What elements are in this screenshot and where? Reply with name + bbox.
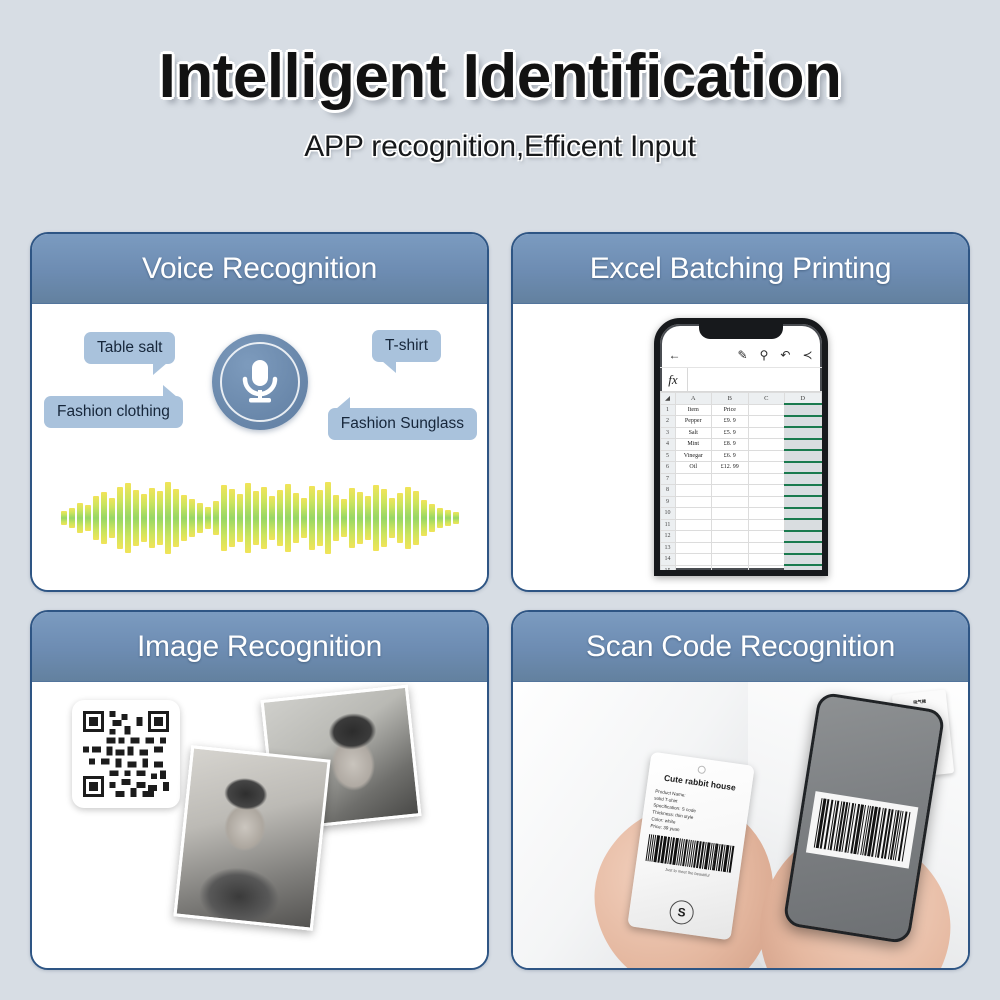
- card-header-voice: Voice Recognition: [32, 234, 487, 304]
- corner-select-all-icon[interactable]: ◢: [660, 393, 675, 405]
- cell-b[interactable]: £9. 9: [712, 416, 749, 428]
- speech-bubble-fashion-sunglass: Fashion Sunglass: [328, 408, 477, 440]
- cell-c[interactable]: [748, 554, 785, 566]
- speech-bubble-table-salt: Table salt: [84, 332, 175, 364]
- sheet-row[interactable]: 7: [660, 473, 821, 485]
- waveform-bar: [61, 511, 67, 525]
- waveform-bar: [221, 485, 227, 551]
- waveform-bar: [93, 496, 99, 540]
- cell-b[interactable]: £12. 99: [712, 462, 749, 474]
- cell-b[interactable]: £8. 9: [712, 439, 749, 451]
- page-subtitle: APP recognition,Efficent Input: [0, 130, 1000, 164]
- cell-d[interactable]: [785, 485, 822, 497]
- waveform-bar: [245, 483, 251, 553]
- edit-pen-icon[interactable]: ✎: [738, 349, 748, 361]
- cell-a[interactable]: [675, 542, 712, 554]
- cell-a[interactable]: [675, 519, 712, 531]
- card-image-recognition[interactable]: Image Recognition: [30, 610, 489, 970]
- cell-d[interactable]: [785, 496, 822, 508]
- hangtag-size-badge: S: [668, 899, 695, 926]
- card-header-excel: Excel Batching Printing: [513, 234, 968, 304]
- row-index[interactable]: 15: [660, 565, 675, 576]
- waveform-bar: [237, 494, 243, 542]
- waveform-bar: [197, 503, 203, 533]
- row-index[interactable]: 3: [660, 427, 675, 439]
- undo-icon[interactable]: ↶: [780, 349, 790, 361]
- sheet-row[interactable]: 8: [660, 485, 821, 497]
- waveform-bar: [269, 496, 275, 540]
- row-index[interactable]: 8: [660, 485, 675, 497]
- waveform-bar: [285, 484, 291, 552]
- cell-b[interactable]: [712, 508, 749, 520]
- row-index[interactable]: 14: [660, 554, 675, 566]
- waveform-bar: [445, 510, 451, 526]
- card-title-excel: Excel Batching Printing: [590, 252, 892, 286]
- waveform-bar: [229, 489, 235, 547]
- card-excel-batching-printing[interactable]: Excel Batching Printing ← ✎ ⚲ ↶ ≺: [511, 232, 970, 592]
- cell-c[interactable]: [748, 542, 785, 554]
- waveform-bar: [365, 496, 371, 540]
- waveform-bar: [317, 490, 323, 546]
- waveform-bar: [85, 505, 91, 531]
- cell-c[interactable]: [748, 462, 785, 474]
- cell-a[interactable]: Salt: [675, 427, 712, 439]
- cell-b[interactable]: [712, 496, 749, 508]
- cell-c[interactable]: [748, 473, 785, 485]
- waveform-bar: [293, 493, 299, 543]
- cell-b[interactable]: [712, 485, 749, 497]
- cell-d[interactable]: [785, 531, 822, 543]
- cell-c[interactable]: [748, 439, 785, 451]
- sheet-row[interactable]: 12: [660, 531, 821, 543]
- sheet-row[interactable]: 3Salt£5. 9: [660, 427, 821, 439]
- row-index[interactable]: 1: [660, 404, 675, 416]
- cell-c[interactable]: [748, 485, 785, 497]
- card-scan-code-recognition[interactable]: Scan Code Recognition 吸气裙 面料 棉 规格 S码 颜色 …: [511, 610, 970, 970]
- sheet-row[interactable]: 6Oil£12. 99: [660, 462, 821, 474]
- waveform-bar: [437, 508, 443, 528]
- card-title-image: Image Recognition: [137, 630, 382, 664]
- cell-a[interactable]: [675, 531, 712, 543]
- excel-sheet[interactable]: ◢ A B C D 1ItemPrice2Pepper£9. 93Salt£5.…: [660, 392, 822, 576]
- row-index[interactable]: 5: [660, 450, 675, 462]
- waveform-bar: [333, 495, 339, 541]
- cell-d[interactable]: [785, 565, 822, 576]
- row-index[interactable]: 10: [660, 508, 675, 520]
- cell-d[interactable]: [785, 416, 822, 428]
- row-index[interactable]: 11: [660, 519, 675, 531]
- sheet-row[interactable]: 1ItemPrice: [660, 404, 821, 416]
- cell-b[interactable]: [712, 473, 749, 485]
- card-body-excel: ← ✎ ⚲ ↶ ≺ fx: [513, 304, 968, 590]
- cell-b[interactable]: [712, 531, 749, 543]
- waveform-bar: [261, 487, 267, 549]
- waveform-bar: [157, 491, 163, 545]
- waveform-bar: [165, 482, 171, 554]
- waveform-bar: [205, 507, 211, 529]
- sheet-row[interactable]: 5Vinegar£6. 9: [660, 450, 821, 462]
- cell-c[interactable]: [748, 565, 785, 576]
- row-index[interactable]: 9: [660, 496, 675, 508]
- cell-d[interactable]: [785, 508, 822, 520]
- waveform-bar: [149, 488, 155, 548]
- cell-a[interactable]: [675, 508, 712, 520]
- sheet-row[interactable]: 9: [660, 496, 821, 508]
- barcode-scan-preview: [806, 791, 918, 869]
- card-body-image: [32, 682, 487, 968]
- waveform-bar: [389, 498, 395, 538]
- cell-a[interactable]: [675, 485, 712, 497]
- waveform-bar: [101, 492, 107, 544]
- cell-a[interactable]: [675, 473, 712, 485]
- waveform-bar: [133, 490, 139, 546]
- waveform-bar: [349, 488, 355, 548]
- waveform-bar: [213, 501, 219, 535]
- cell-a[interactable]: [675, 554, 712, 566]
- cell-c[interactable]: [748, 496, 785, 508]
- row-index[interactable]: 12: [660, 531, 675, 543]
- waveform-bar: [125, 483, 131, 553]
- sheet-row[interactable]: 11: [660, 519, 821, 531]
- cell-a[interactable]: Pepper: [675, 416, 712, 428]
- cell-c[interactable]: [748, 427, 785, 439]
- share-icon[interactable]: ≺: [802, 349, 812, 361]
- waveform-bar: [181, 495, 187, 541]
- search-icon[interactable]: ⚲: [760, 349, 769, 361]
- waveform-bar: [381, 489, 387, 547]
- waveform-bar: [253, 491, 259, 545]
- waveform-bar: [373, 485, 379, 551]
- cell-b[interactable]: [712, 542, 749, 554]
- card-title-scan: Scan Code Recognition: [586, 630, 895, 664]
- row-index[interactable]: 4: [660, 439, 675, 451]
- waveform-bar: [421, 500, 427, 536]
- microphone-ring-icon: [220, 342, 300, 422]
- formula-fx-icon: fx: [660, 368, 688, 392]
- row-index[interactable]: 7: [660, 473, 675, 485]
- cell-d[interactable]: [785, 404, 822, 416]
- cell-d[interactable]: [785, 462, 822, 474]
- cell-d[interactable]: [785, 427, 822, 439]
- waveform-bar: [309, 486, 315, 550]
- column-header-c[interactable]: C: [748, 393, 785, 405]
- cell-c[interactable]: [748, 508, 785, 520]
- cell-c[interactable]: [748, 416, 785, 428]
- cell-a[interactable]: Vinegar: [675, 450, 712, 462]
- cell-d[interactable]: [785, 554, 822, 566]
- feature-grid: Voice Recognition Table salt T-shirt Fas…: [30, 232, 970, 970]
- card-voice-recognition[interactable]: Voice Recognition Table salt T-shirt Fas…: [30, 232, 489, 592]
- row-index[interactable]: 2: [660, 416, 675, 428]
- sheet-row[interactable]: 4Mint£8. 9: [660, 439, 821, 451]
- phone-mockup-excel: ← ✎ ⚲ ↶ ≺ fx: [654, 318, 828, 576]
- cell-d[interactable]: [785, 450, 822, 462]
- cell-d[interactable]: [785, 473, 822, 485]
- waveform-bar: [397, 493, 403, 543]
- waveform-bar: [277, 490, 283, 546]
- waveform-bar: [325, 482, 331, 554]
- qr-code-thumbnail[interactable]: [72, 700, 180, 808]
- column-header-b[interactable]: B: [712, 393, 749, 405]
- waveform-bar: [141, 494, 147, 542]
- waveform-bar: [453, 512, 459, 524]
- cell-c[interactable]: [748, 404, 785, 416]
- waveform-bar: [357, 492, 363, 544]
- cell-a[interactable]: Item: [675, 404, 712, 416]
- cell-a[interactable]: Mint: [675, 439, 712, 451]
- waveform-bar: [405, 487, 411, 549]
- phone-notch: [699, 324, 783, 339]
- cell-b[interactable]: Price: [712, 404, 749, 416]
- waveform-bar: [173, 489, 179, 547]
- hero-section: Intelligent Identification APP recogniti…: [0, 0, 1000, 164]
- cell-d[interactable]: [785, 439, 822, 451]
- waveform-bar: [301, 498, 307, 538]
- cell-a[interactable]: Oil: [675, 462, 712, 474]
- waveform-bar: [69, 508, 75, 528]
- page-title: Intelligent Identification: [0, 46, 1000, 108]
- cell-c[interactable]: [748, 531, 785, 543]
- sheet-row[interactable]: 2Pepper£9. 9: [660, 416, 821, 428]
- formula-bar[interactable]: fx: [660, 368, 822, 392]
- photo-child-portrait[interactable]: [173, 745, 330, 931]
- card-header-scan: Scan Code Recognition: [513, 612, 968, 682]
- sheet-row[interactable]: 10: [660, 508, 821, 520]
- row-index[interactable]: 6: [660, 462, 675, 474]
- qr-code-icon: [83, 711, 169, 797]
- microphone-icon[interactable]: [212, 334, 308, 430]
- waveform-bar: [341, 499, 347, 537]
- sheet-row[interactable]: 15: [660, 565, 821, 576]
- column-header-a[interactable]: A: [675, 393, 712, 405]
- row-index[interactable]: 13: [660, 542, 675, 554]
- speech-bubble-fashion-clothing: Fashion clothing: [44, 396, 183, 428]
- back-arrow-icon[interactable]: ←: [669, 349, 681, 361]
- waveform-bar: [413, 491, 419, 545]
- cell-a[interactable]: [675, 496, 712, 508]
- audio-waveform: [32, 472, 487, 564]
- cell-a[interactable]: [675, 565, 712, 576]
- sheet-row[interactable]: 13: [660, 542, 821, 554]
- hangtag-details: Product Name: solid T-shirt Specificatio…: [650, 787, 741, 841]
- cell-d[interactable]: [785, 542, 822, 554]
- speech-bubble-tshirt: T-shirt: [372, 330, 441, 362]
- card-body-voice: Table salt T-shirt Fashion clothing Fash…: [32, 304, 487, 590]
- cell-b[interactable]: £5. 9: [712, 427, 749, 439]
- card-title-voice: Voice Recognition: [142, 252, 377, 286]
- excel-toolbar[interactable]: ← ✎ ⚲ ↶ ≺: [660, 342, 822, 368]
- waveform-bar: [117, 487, 123, 549]
- cell-b[interactable]: [712, 565, 749, 576]
- cell-b[interactable]: [712, 554, 749, 566]
- sheet-column-header-row: ◢ A B C D: [660, 393, 821, 405]
- card-body-scan: 吸气裙 面料 棉 规格 S码 颜色 白色 Cute rabbit house P…: [513, 682, 968, 968]
- cell-d[interactable]: [785, 519, 822, 531]
- card-header-image: Image Recognition: [32, 612, 487, 682]
- waveform-bar: [77, 503, 83, 533]
- waveform-bar: [189, 499, 195, 537]
- cell-b[interactable]: £6. 9: [712, 450, 749, 462]
- cell-c[interactable]: [748, 450, 785, 462]
- column-header-d[interactable]: D: [785, 393, 822, 405]
- sheet-row[interactable]: 14: [660, 554, 821, 566]
- waveform-bar: [109, 498, 115, 538]
- waveform-bar: [429, 504, 435, 532]
- cell-b[interactable]: [712, 519, 749, 531]
- cell-c[interactable]: [748, 519, 785, 531]
